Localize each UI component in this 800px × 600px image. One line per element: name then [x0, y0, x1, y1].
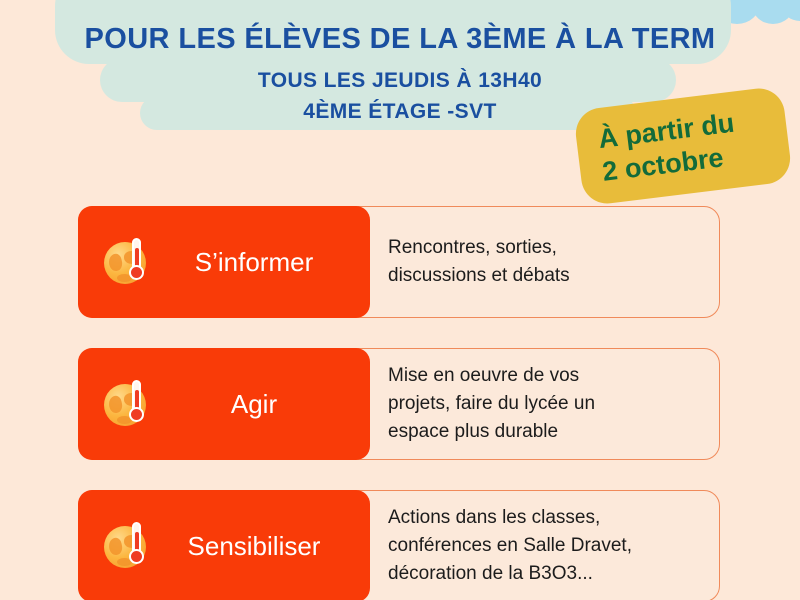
activity-card: Mise en oeuvre de vos projets, faire du …	[78, 348, 720, 460]
activity-card-label-block: Agir	[78, 348, 370, 460]
header-schedule-line: TOUS LES JEUDIS À 13H40	[0, 56, 800, 94]
activity-card-description: Rencontres, sorties, discussions et déba…	[388, 206, 714, 318]
description-line: projets, faire du lycée un	[388, 390, 714, 418]
header-audience-line: POUR LES ÉLÈVES DE LA 3ÈME À LA TERM	[0, 0, 800, 56]
description-line: discussions et débats	[388, 262, 714, 290]
description-line: décoration de la B3O3...	[388, 560, 714, 588]
poster-canvas: POUR LES ÉLÈVES DE LA 3ÈME À LA TERM TOU…	[0, 0, 800, 600]
globe-with-thermometer-icon	[104, 522, 152, 570]
description-line: Mise en oeuvre de vos	[388, 362, 714, 390]
description-line: conférences en Salle Dravet,	[388, 532, 714, 560]
activity-card-title: Agir	[152, 389, 370, 419]
globe-with-thermometer-icon	[104, 238, 152, 286]
activity-card-title: Sensibiliser	[152, 531, 370, 561]
activity-card-label-block: S’informer	[78, 206, 370, 318]
description-line: Rencontres, sorties,	[388, 234, 714, 262]
description-line: espace plus durable	[388, 418, 714, 446]
activity-card-description: Actions dans les classes, conférences en…	[388, 490, 714, 600]
activity-card: Actions dans les classes, conférences en…	[78, 490, 720, 600]
description-line: Actions dans les classes,	[388, 504, 714, 532]
activity-card-description: Mise en oeuvre de vos projets, faire du …	[388, 348, 714, 460]
activity-card-title: S’informer	[152, 247, 370, 277]
activity-card-label-block: Sensibiliser	[78, 490, 370, 600]
globe-with-thermometer-icon	[104, 380, 152, 428]
activity-card: Rencontres, sorties, discussions et déba…	[78, 206, 720, 318]
